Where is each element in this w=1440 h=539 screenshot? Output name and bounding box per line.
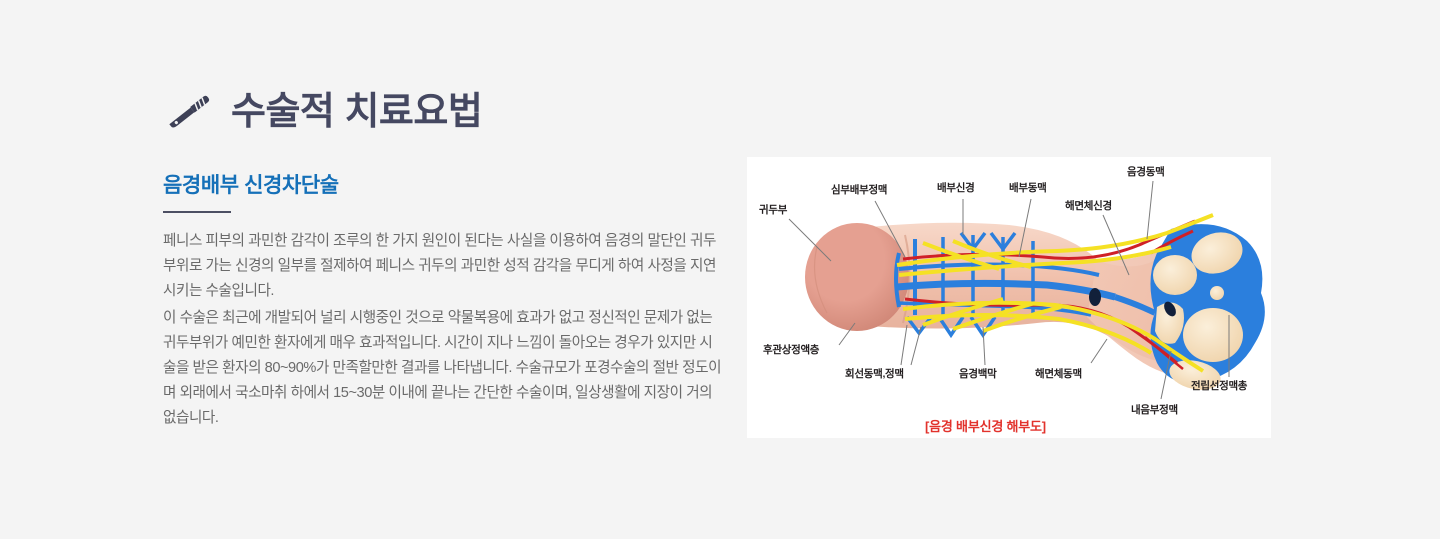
label-tunica-albuginea: 음경백막 xyxy=(959,367,997,380)
plexus-lobe-3 xyxy=(1210,286,1224,300)
label-cavernous-nerve: 해면체신경 xyxy=(1065,199,1112,212)
anatomy-figure-panel: 귀두부 심부배부정맥 배부신경 배부동맥 해면체신경 음경동맥 후관상정액층 회… xyxy=(747,157,1271,438)
plexus-lobe-4 xyxy=(1183,308,1243,362)
page-heading: 수술적 치료요법 xyxy=(163,84,733,140)
page-title: 수술적 치료요법 xyxy=(231,93,482,131)
section-body: 페니스 피부의 과민한 감각이 조루의 한 가지 원인이 된다는 사실을 이용하… xyxy=(163,229,723,431)
paragraph-2: 이 수술은 최근에 개발되어 널리 시행중인 것으로 약물복용에 효과가 없고 … xyxy=(163,306,723,431)
label-deep-dorsal-vein: 심부배부정맥 xyxy=(831,183,887,196)
label-prostatic-venous-plexus: 전립선정맥총 xyxy=(1191,379,1248,392)
scalpel-icon xyxy=(163,89,215,135)
plexus-lobe-2 xyxy=(1153,255,1197,295)
label-dorsal-artery: 배부동맥 xyxy=(1009,181,1046,194)
section-divider xyxy=(163,211,231,213)
label-dorsal-nerve: 배부신경 xyxy=(937,181,974,194)
label-cavernous-artery: 해면체동맥 xyxy=(1035,367,1082,380)
paragraph-1: 페니스 피부의 과민한 감각이 조루의 한 가지 원인이 된다는 사실을 이용하… xyxy=(163,229,723,304)
label-glans: 귀두부 xyxy=(759,203,788,216)
cavernous-nerve-node-left xyxy=(1089,288,1101,306)
label-penile-artery: 음경동맥 xyxy=(1127,165,1164,178)
content-column: 수술적 치료요법 음경배부 신경차단술 페니스 피부의 과민한 감각이 조루의 … xyxy=(163,84,733,431)
penile-dorsal-nerve-anatomy-diagram: 귀두부 심부배부정맥 배부신경 배부동맥 해면체신경 음경동맥 후관상정액층 회… xyxy=(747,157,1271,438)
label-internal-pudendal-vein: 내음부정맥 xyxy=(1131,403,1178,416)
page-root: 수술적 치료요법 음경배부 신경차단술 페니스 피부의 과민한 감각이 조루의 … xyxy=(0,0,1440,539)
section-subtitle: 음경배부 신경차단술 xyxy=(163,173,733,198)
glans-penis xyxy=(805,223,909,331)
figure-caption: [음경 배부신경 해부도] xyxy=(925,419,1046,434)
label-retrocoronal-plexus: 후관상정액층 xyxy=(763,343,820,356)
label-circumflex-vessels: 회선동맥,정맥 xyxy=(845,367,904,380)
